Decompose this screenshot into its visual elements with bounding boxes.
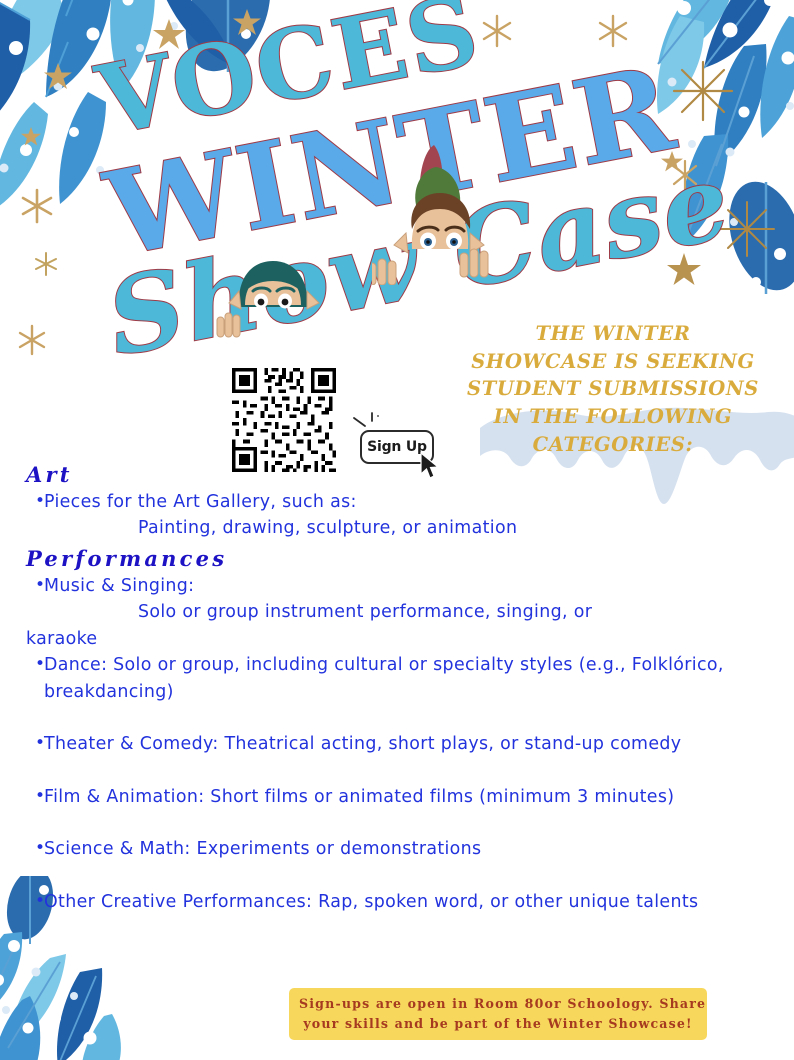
bullet-dot-icon: •: [35, 731, 44, 757]
signup-info-banner: Sign-ups are open in Room 80or Schoology…: [289, 988, 707, 1040]
art-detail-line: Painting, drawing, sculpture, or animati…: [0, 515, 794, 541]
list-item: • Film & Animation: Short films or anima…: [0, 784, 794, 810]
music-detail-wrap: karaoke: [0, 626, 794, 652]
gold-headline-line-5: CATEGORIES:: [432, 431, 794, 459]
winter-showcase-poster: VOCES WINTER Show Case: [0, 0, 794, 1060]
list-item: • Science & Math: Experiments or demonst…: [0, 836, 794, 862]
list-item-label: Music & Singing:: [44, 573, 764, 599]
gold-headline-line-4: IN THE FOLLOWING: [432, 403, 794, 431]
bullet-dot-icon: •: [35, 889, 44, 915]
list-item: • Theater & Comedy: Theatrical acting, s…: [0, 731, 794, 757]
bullet-dot-icon: •: [35, 836, 44, 862]
bullet-dot-icon: •: [35, 489, 44, 515]
category-heading-art: Art: [0, 462, 794, 487]
list-item: • Other Creative Performances: Rap, spok…: [0, 889, 794, 915]
categories-content: Art • Pieces for the Art Gallery, such a…: [0, 462, 794, 915]
list-item-label: Film & Animation: Short films or animate…: [44, 784, 764, 810]
music-detail-line: Solo or group instrument performance, si…: [0, 599, 794, 625]
list-item-label: Science & Math: Experiments or demonstra…: [44, 836, 764, 862]
list-item: • Pieces for the Art Gallery, such as:: [0, 489, 794, 515]
qr-code-icon[interactable]: [232, 368, 336, 472]
gold-headline-line-3: STUDENT SUBMISSIONS: [432, 375, 794, 403]
list-item-label: Theater & Comedy: Theatrical acting, sho…: [44, 731, 764, 757]
list-item-label: Dance: Solo or group, including cultural…: [44, 652, 764, 705]
list-item: • Dance: Solo or group, including cultur…: [0, 652, 794, 705]
bullet-dot-icon: •: [35, 652, 44, 678]
music-detail-label: Solo or group instrument performance, si…: [30, 602, 592, 622]
gold-headline-line-1: THE WINTER: [432, 320, 794, 348]
art-detail-label: Painting, drawing, sculpture, or animati…: [30, 518, 517, 538]
banner-line-1: Sign-ups are open in Room 80or Schoology…: [299, 994, 697, 1014]
signup-qr-group[interactable]: Sign Up: [232, 368, 336, 472]
bullet-dot-icon: •: [35, 573, 44, 599]
list-item: • Music & Singing:: [0, 573, 794, 599]
bullet-dot-icon: •: [35, 784, 44, 810]
gold-headline: THE WINTER SHOWCASE IS SEEKING STUDENT S…: [432, 320, 794, 458]
category-heading-performances: Performances: [0, 546, 794, 571]
banner-line-2: your skills and be part of the Winter Sh…: [299, 1014, 697, 1034]
list-item-label: Other Creative Performances: Rap, spoken…: [44, 889, 764, 915]
gold-headline-line-2: SHOWCASE IS SEEKING: [432, 348, 794, 376]
list-item-label: Pieces for the Art Gallery, such as:: [44, 489, 764, 515]
